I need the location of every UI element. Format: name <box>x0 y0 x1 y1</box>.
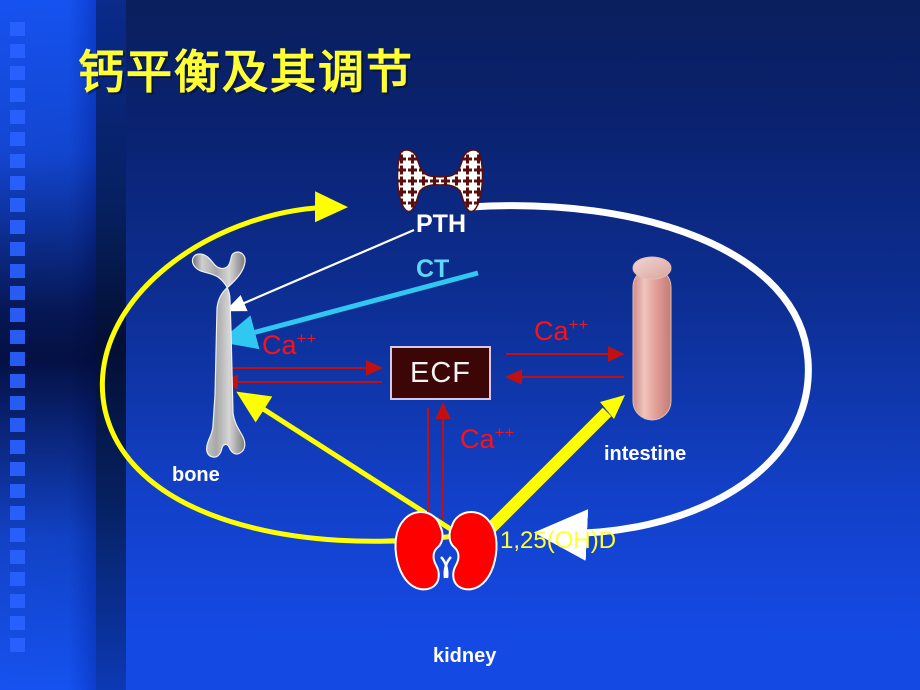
bone-icon <box>193 252 246 457</box>
ca-text: Ca <box>534 316 569 346</box>
bone-label: bone <box>172 464 220 487</box>
ca-charge: ++ <box>297 329 317 348</box>
ca-text: Ca <box>262 330 297 360</box>
slide-canvas: 钙平衡及其调节 <box>0 0 920 690</box>
ecf-compartment-box: ECF <box>390 346 491 400</box>
intestine-label: intestine <box>604 443 686 466</box>
ca-charge: ++ <box>569 315 589 334</box>
pth-label: PTH <box>416 210 466 239</box>
parathyroid-gland-icon <box>398 150 483 212</box>
ca-text: Ca <box>460 424 495 454</box>
calcium-ion-label-kidney: Ca++ <box>460 423 514 455</box>
flow-arrow-kidney-to-bone <box>243 396 452 530</box>
ecf-label: ECF <box>410 357 471 390</box>
kidney-label: kidney <box>433 645 496 668</box>
intestine-icon <box>633 257 671 420</box>
diagram-canvas <box>0 0 920 690</box>
vitamin-d-label: 1,25(OH)D <box>500 527 616 555</box>
flow-arrow-kidney-to-ecf <box>428 405 443 520</box>
calcium-ion-label-intestine: Ca++ <box>534 315 588 347</box>
calcium-ion-label-bone: Ca++ <box>262 329 316 361</box>
ct-label: CT <box>416 255 449 284</box>
ca-charge: ++ <box>495 423 515 442</box>
